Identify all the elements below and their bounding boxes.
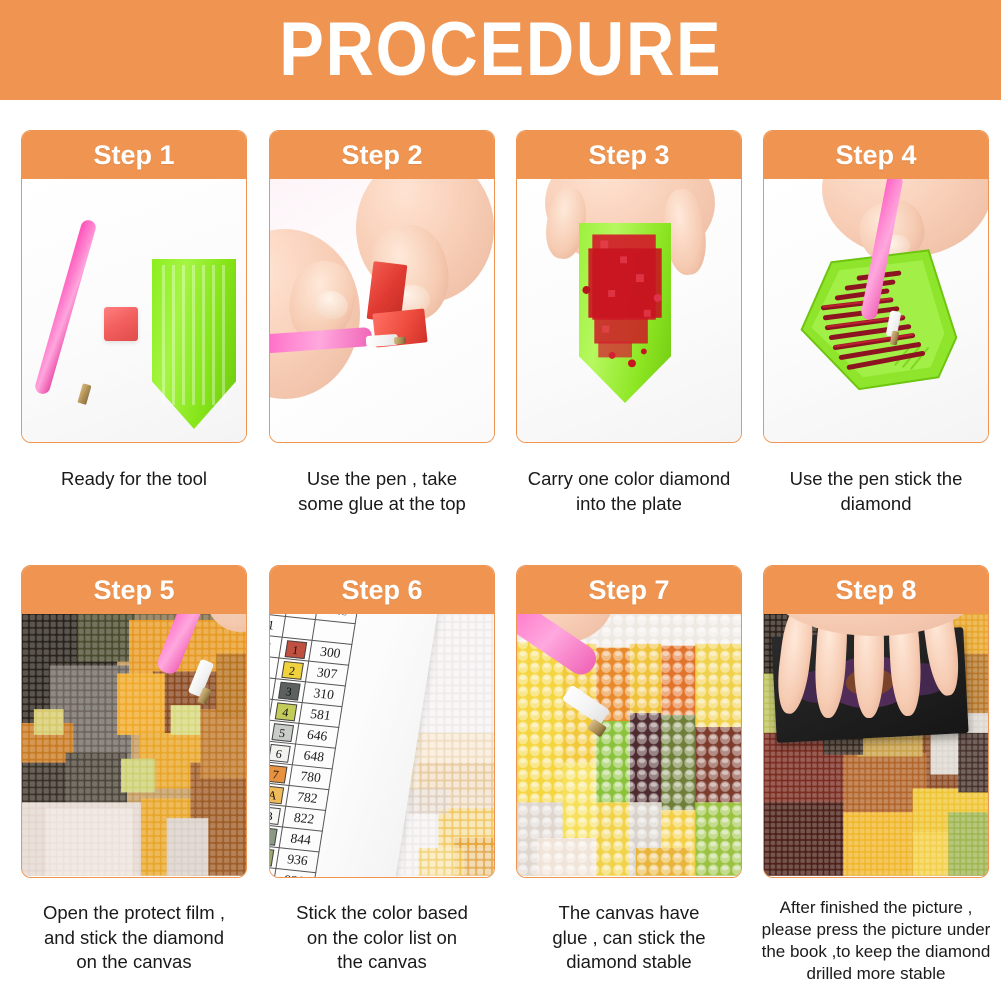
color-swatch: 1 — [284, 640, 307, 659]
sunflower-mosaic-canvas — [22, 614, 246, 876]
step-card-1: Step 1 — [21, 130, 247, 443]
steps-grid: Step 1 — [0, 100, 1001, 1001]
color-swatch: 5 — [271, 723, 294, 742]
step-caption-6: Stick the color based on the color list … — [262, 901, 502, 975]
color-swatch: C — [270, 826, 277, 845]
color-swatch: 7 — [270, 764, 287, 783]
step-header-label: Step 4 — [835, 142, 916, 169]
step-header-2: Step 2 — [270, 131, 494, 179]
step-card-3: Step 3 — [516, 130, 742, 443]
step-header-label: Step 7 — [588, 577, 669, 604]
step-caption-2: Use the pen , take some glue at the top — [262, 467, 502, 516]
step-header-label: Step 6 — [341, 577, 422, 604]
page-banner: PROCEDURE — [0, 0, 1001, 100]
step-photo-5 — [22, 614, 246, 878]
tray-with-drills-illustration — [517, 179, 741, 443]
color-swatch: 2 — [281, 660, 304, 679]
step-header-1: Step 1 — [22, 131, 246, 179]
step-header-label: Step 3 — [588, 142, 669, 169]
step-card-6: Step 6 — [269, 565, 495, 878]
color-list-table: Sort Symbol DMC 121300323074331054581656… — [270, 614, 359, 878]
steps-row-2: Step 5 — [0, 565, 1001, 1001]
color-swatch: 4 — [274, 702, 297, 721]
step-caption-5: Open the protect film , and stick the di… — [14, 901, 254, 975]
step-header-label: Step 1 — [93, 142, 174, 169]
step-card-5: Step 5 — [21, 565, 247, 878]
color-list-body: 121300323074331054581656467664887780A782… — [270, 614, 355, 878]
color-swatch: 3 — [278, 681, 301, 700]
step-photo-3 — [517, 179, 741, 443]
step-header-8: Step 8 — [764, 566, 988, 614]
step-header-4: Step 4 — [764, 131, 988, 179]
step-card-8: Step 8 — [763, 565, 989, 878]
step-header-5: Step 5 — [22, 566, 246, 614]
green-tray-icon — [152, 259, 236, 429]
step-header-label: Step 2 — [341, 142, 422, 169]
chart-sheet: Sort Symbol DMC 121300323074331054581656… — [270, 614, 439, 878]
step-caption-4: Use the pen stick the diamond — [756, 467, 996, 516]
step-header-label: Step 5 — [93, 577, 174, 604]
page-title: PROCEDURE — [279, 12, 722, 88]
step-caption-8: After finished the picture , please pres… — [756, 897, 996, 985]
step-caption-1: Ready for the tool — [14, 467, 254, 492]
color-swatch: B — [270, 806, 280, 825]
step-header-3: Step 3 — [517, 131, 741, 179]
step-photo-1 — [22, 179, 246, 443]
step-photo-8 — [764, 614, 988, 878]
cell-symbol: 5 — [270, 720, 299, 744]
step-photo-4 — [764, 179, 988, 443]
step-photo-6: Sort Symbol DMC 121300323074331054581656… — [270, 614, 494, 878]
step-header-label: Step 8 — [835, 577, 916, 604]
step-card-4: Step 4 — [763, 130, 989, 443]
step-header-6: Step 6 — [270, 566, 494, 614]
step-photo-2 — [270, 179, 494, 443]
step-caption-3: Carry one color diamond into the plate — [509, 467, 749, 516]
cell-symbol: 4 — [270, 699, 302, 723]
wax-square-icon — [104, 307, 138, 341]
pink-pen-icon — [33, 218, 97, 395]
tools-illustration — [22, 179, 246, 443]
hands-with-glue-illustration — [270, 179, 494, 443]
pen-tip-icon — [77, 383, 91, 405]
steps-row-1: Step 1 — [0, 130, 1001, 570]
step-card-7: Step 7 — [516, 565, 742, 878]
color-swatch: F — [270, 847, 274, 866]
step-photo-7 — [517, 614, 741, 878]
color-swatch: 6 — [270, 743, 290, 762]
pen-picking-drills-illustration — [764, 179, 988, 443]
step-card-2: Step 2 — [269, 130, 495, 443]
red-drills-icon — [517, 179, 741, 441]
step-caption-7: The canvas have glue , can stick the dia… — [509, 901, 749, 975]
procedure-infographic: PROCEDURE Step 1 — [0, 0, 1001, 1001]
color-chart-paper: Sort Symbol DMC 121300323074331054581656… — [270, 614, 494, 878]
step-header-7: Step 7 — [517, 566, 741, 614]
color-swatch: A — [270, 785, 284, 804]
